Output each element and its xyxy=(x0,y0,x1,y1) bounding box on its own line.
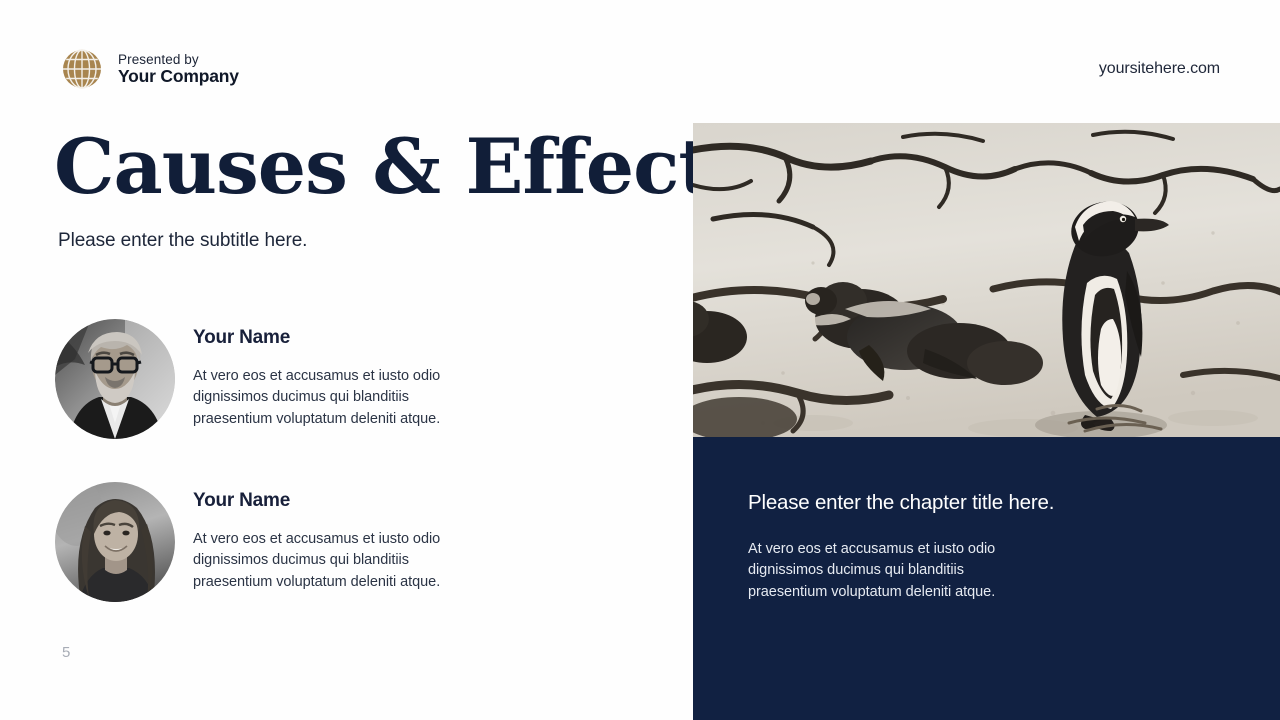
person-text: Your Name At vero eos et accusamus et iu… xyxy=(193,319,471,430)
presented-by-label: Presented by xyxy=(118,52,239,67)
presentation-slide: Presented by Your Company yoursitehere.c… xyxy=(0,0,1280,720)
person-text: Your Name At vero eos et accusamus et iu… xyxy=(193,482,471,593)
people-list: Your Name At vero eos et accusamus et iu… xyxy=(55,319,655,645)
chapter-description: At vero eos et accusamus et iusto odio d… xyxy=(748,539,1028,603)
chapter-title: Please enter the chapter title here. xyxy=(748,491,1225,515)
person-name: Your Name xyxy=(193,490,471,512)
slide-header: Presented by Your Company yoursitehere.c… xyxy=(60,46,1220,92)
avatar xyxy=(55,319,175,439)
person-description: At vero eos et accusamus et iusto odio d… xyxy=(193,529,471,593)
page-subtitle: Please enter the subtitle here. xyxy=(58,230,307,252)
avatar xyxy=(55,482,175,602)
brand-text: Presented by Your Company xyxy=(118,52,239,87)
site-url[interactable]: yoursitehere.com xyxy=(1099,60,1220,78)
company-name: Your Company xyxy=(118,67,239,87)
person-name: Your Name xyxy=(193,327,471,349)
list-item: Your Name At vero eos et accusamus et iu… xyxy=(55,319,655,439)
globe-icon xyxy=(60,47,104,91)
page-title: Causes & Effects xyxy=(54,129,754,205)
page-number: 5 xyxy=(62,644,70,661)
chapter-panel: Please enter the chapter title here. At … xyxy=(693,437,1280,720)
person-description: At vero eos et accusamus et iusto odio d… xyxy=(193,366,471,430)
right-column: Please enter the chapter title here. At … xyxy=(693,123,1280,720)
chapter-photo xyxy=(693,123,1280,437)
brand-block: Presented by Your Company xyxy=(60,47,239,91)
list-item: Your Name At vero eos et accusamus et iu… xyxy=(55,482,655,602)
